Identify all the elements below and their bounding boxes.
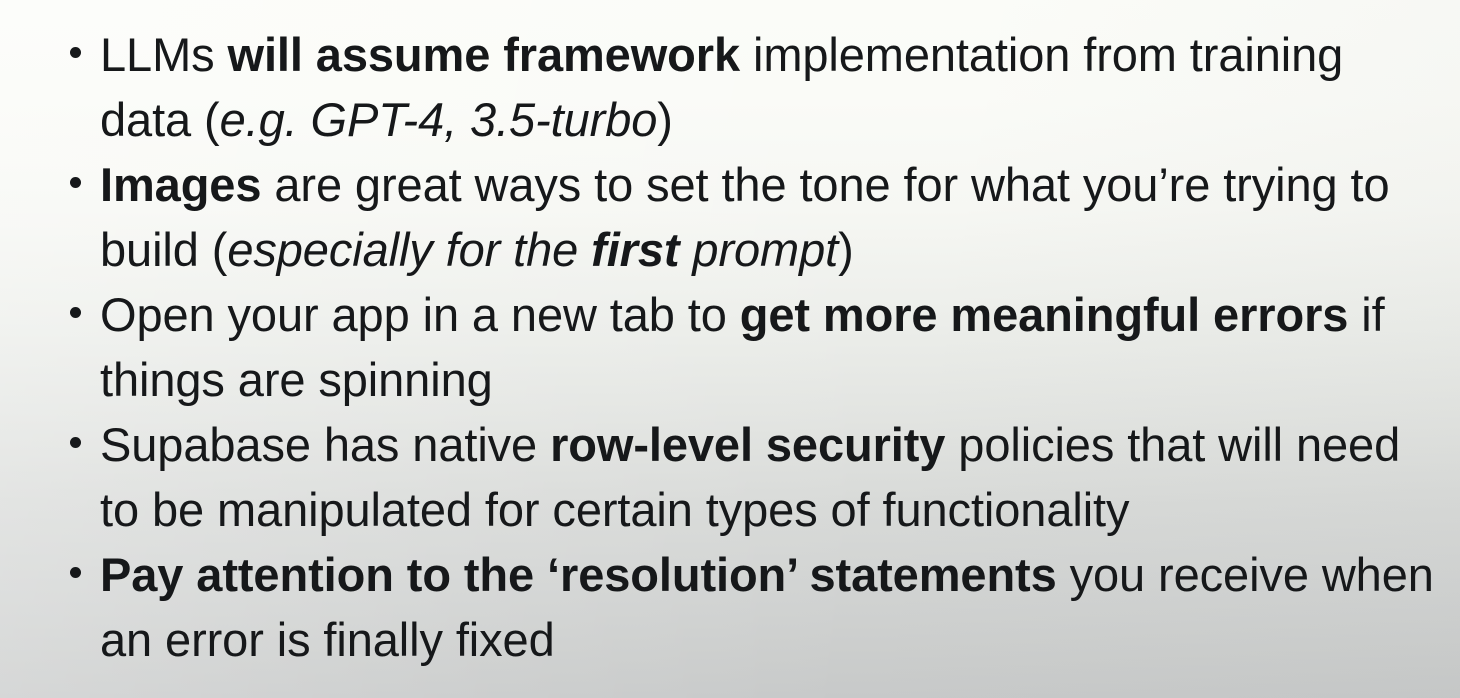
list-item: Open your app in a new tab to get more m… [70,282,1442,412]
bullet-point-icon [70,437,81,448]
list-item-text: LLMs will assume framework implementatio… [100,22,1442,152]
bullet-list: LLMs will assume framework implementatio… [0,0,1460,672]
list-item: Images are great ways to set the tone fo… [70,152,1442,282]
list-item-text: Pay attention to the ‘resolution’ statem… [100,542,1442,672]
list-item: Supabase has native row-level security p… [70,412,1442,542]
bullet-point-icon [70,307,81,318]
bullet-point-icon [70,47,81,58]
list-item-text: Images are great ways to set the tone fo… [100,152,1442,282]
list-item: Pay attention to the ‘resolution’ statem… [70,542,1442,672]
bullet-point-icon [70,177,81,188]
slide-canvas: LLMs will assume framework implementatio… [0,0,1460,698]
list-item-text: Supabase has native row-level security p… [100,412,1442,542]
list-item-text: Open your app in a new tab to get more m… [100,282,1442,412]
list-item: LLMs will assume framework implementatio… [70,22,1442,152]
bullet-point-icon [70,567,81,578]
